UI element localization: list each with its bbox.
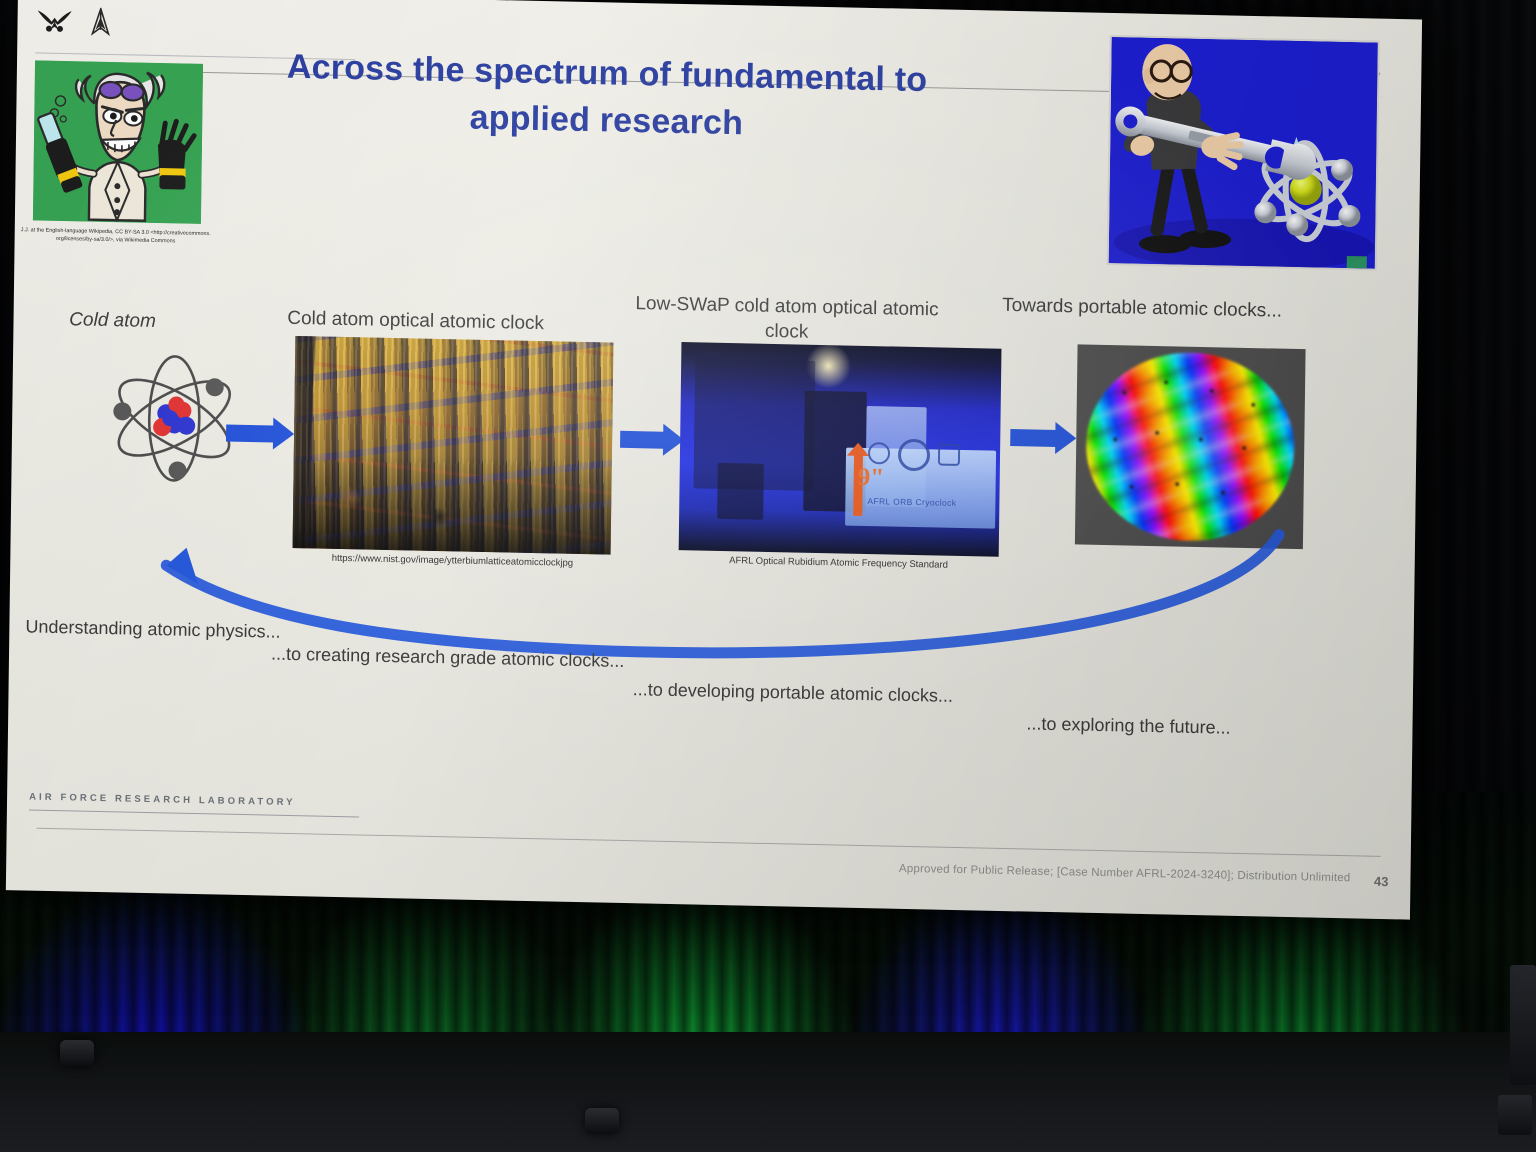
stage-light-center <box>585 1108 619 1134</box>
mad-scientist-cartoon <box>33 60 203 224</box>
afrl-footer-text: AIR FORCE RESEARCH LABORATORY <box>29 792 296 809</box>
footer-divider <box>37 828 1381 857</box>
air-force-wings-icon <box>35 7 73 34</box>
projection-screen: AFRL <box>6 0 1422 920</box>
flow-arrow-3 <box>1010 429 1056 447</box>
engineer-wrench-atom-image <box>1107 35 1380 271</box>
stage-label-cold-atom: Cold atom <box>27 308 197 334</box>
auditorium-stage: AFRL <box>0 0 1536 1152</box>
stage-label-research-clock: Cold atom optical atomic clock <box>246 307 586 336</box>
feedback-curve-arrow <box>69 489 1301 685</box>
image-attribution: J.J. at the English-language Wikipedia, … <box>21 226 211 246</box>
slide-page-number: 43 <box>1374 874 1389 889</box>
clock-seal-3 <box>938 443 960 465</box>
narrative-step-4: ...to exploring the future... <box>1026 713 1230 738</box>
speaker-right <box>1510 965 1536 1085</box>
page-title: Across the spectrum of fundamental to ap… <box>246 43 967 152</box>
narrative-step-3: ...to developing portable atomic clocks.… <box>633 679 953 707</box>
stage-light-left <box>60 1040 94 1066</box>
presentation-slide: AFRL <box>6 0 1422 920</box>
footer-left-divider <box>29 810 359 818</box>
nine-inch-label: 9" <box>858 464 885 493</box>
flow-arrow-2 <box>620 431 664 449</box>
service-logos <box>35 6 111 36</box>
space-force-delta-icon <box>89 8 111 36</box>
speaker-right-lower <box>1498 1095 1532 1135</box>
narrative-step-1: Understanding atomic physics... <box>25 616 280 642</box>
stage-label-portable-clocks: Towards portable atomic clocks... <box>1002 293 1282 324</box>
stage-floor <box>0 1032 1536 1152</box>
flow-arrow-1 <box>226 425 274 443</box>
atom-diagram <box>93 347 255 490</box>
clock-seal-1 <box>868 442 890 464</box>
stage-label-lowswap-clock: Low-SWaP cold atom optical atomic clock <box>621 291 952 348</box>
release-approval-text: Approved for Public Release; [Case Numbe… <box>899 863 1351 884</box>
